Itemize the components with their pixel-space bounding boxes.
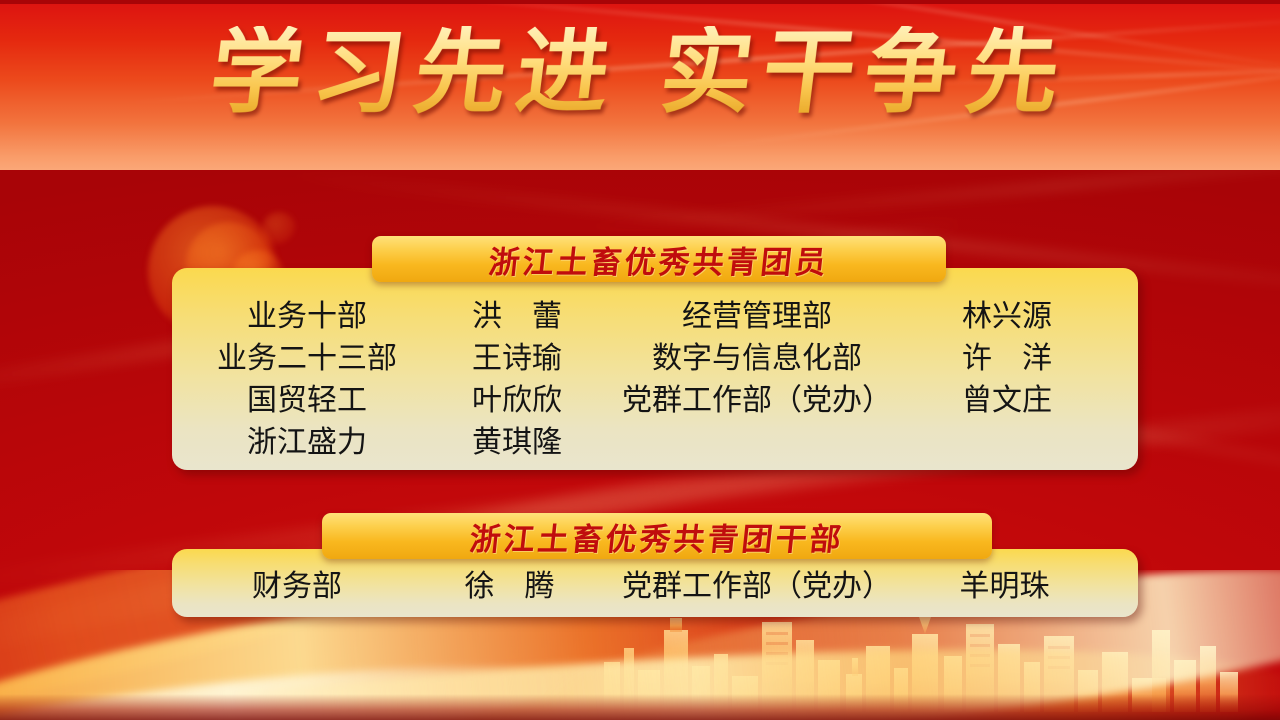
dept-right: 经营管理部 (592, 291, 922, 335)
dept-right: 党群工作部（党办） (592, 375, 922, 419)
cadre-list: 财务部 徐 腾 党群工作部（党办） 羊明珠 (172, 562, 1138, 604)
name-left: 叶欣欣 (442, 375, 592, 419)
section-header-outstanding-league-cadres: 浙江土畜优秀共青团干部 (322, 513, 992, 559)
name-right: 林兴源 (922, 291, 1092, 335)
slide-canvas: 学习先进 实干争先 浙江土畜优秀共青团员 业务十部 洪 蕾 经营管理部 林兴源 … (0, 0, 1280, 720)
dept-left: 财务部 (172, 561, 422, 605)
name-left: 王诗瑜 (442, 333, 592, 377)
title-banner: 学习先进 实干争先 (0, 4, 1280, 170)
list-item: 业务二十三部 王诗瑜 数字与信息化部 许 洋 (172, 334, 1138, 376)
dept-left: 浙江盛力 (172, 417, 442, 461)
list-item: 浙江盛力 黄琪隆 (172, 418, 1138, 460)
name-left: 黄琪隆 (442, 417, 592, 461)
list-item: 业务十部 洪 蕾 经营管理部 林兴源 (172, 292, 1138, 334)
panel-outstanding-league-members: 业务十部 洪 蕾 经营管理部 林兴源 业务二十三部 王诗瑜 数字与信息化部 许 … (172, 268, 1138, 470)
section-header-label: 浙江土畜优秀共青团员 (487, 237, 832, 282)
dept-right: 党群工作部（党办） (597, 561, 917, 605)
page-title: 学习先进 实干争先 (0, 26, 1280, 118)
name-left: 洪 蕾 (442, 291, 592, 335)
dept-left: 业务十部 (172, 291, 442, 335)
name-left: 徐 腾 (422, 561, 597, 605)
member-list: 业务十部 洪 蕾 经营管理部 林兴源 业务二十三部 王诗瑜 数字与信息化部 许 … (172, 292, 1138, 460)
panel-outstanding-league-cadres: 财务部 徐 腾 党群工作部（党办） 羊明珠 (172, 549, 1138, 617)
dept-right: 数字与信息化部 (592, 333, 922, 377)
section-header-outstanding-league-members: 浙江土畜优秀共青团员 (372, 236, 946, 282)
name-right: 羊明珠 (917, 561, 1092, 605)
dept-left: 业务二十三部 (172, 333, 442, 377)
name-right: 许 洋 (922, 333, 1092, 377)
name-right: 曾文庄 (922, 375, 1092, 419)
list-item: 财务部 徐 腾 党群工作部（党办） 羊明珠 (172, 562, 1138, 604)
bottom-shade (0, 694, 1280, 720)
section-header-label: 浙江土畜优秀共青团干部 (468, 514, 847, 559)
dept-left: 国贸轻工 (172, 375, 442, 419)
list-item: 国贸轻工 叶欣欣 党群工作部（党办） 曾文庄 (172, 376, 1138, 418)
